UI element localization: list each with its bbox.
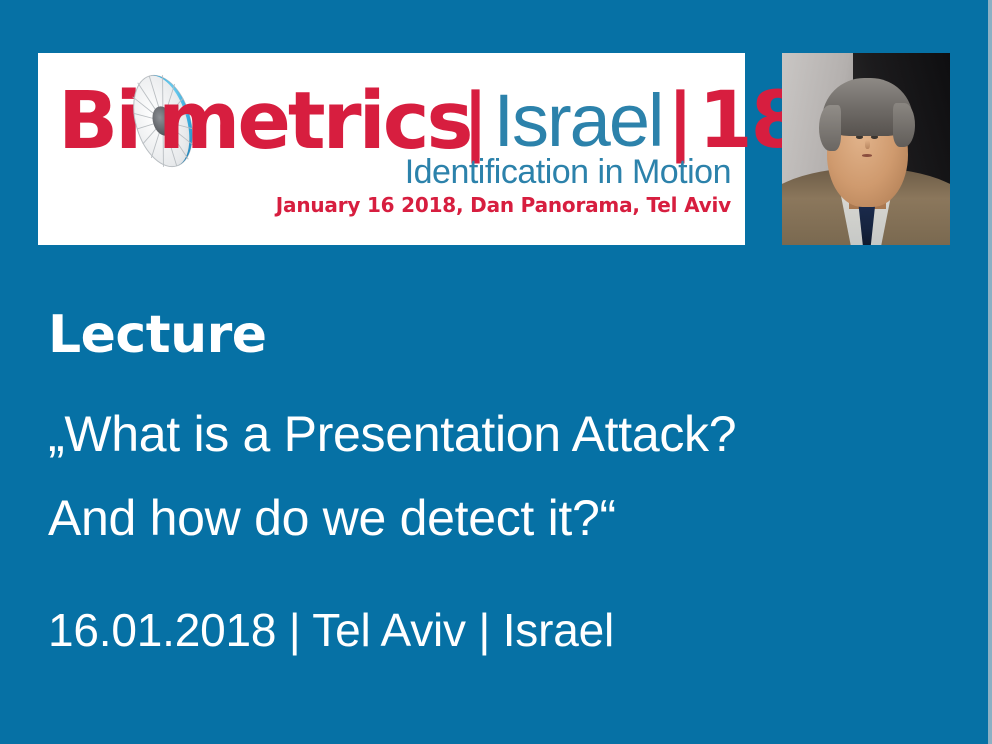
portrait-nose: [865, 140, 870, 150]
lecture-title-line-1: „What is a Presentation Attack?: [48, 405, 736, 463]
presentation-slide: Bi: [0, 0, 992, 744]
event-details: 16.01.2018 | Tel Aviv | Israel: [48, 603, 614, 657]
logo-event-line: January 16 2018, Dan Panorama, Tel Aviv: [276, 193, 731, 217]
portrait-eye-left: [856, 135, 863, 139]
page-title: Lecture: [48, 306, 267, 364]
right-edge-strip: [988, 0, 992, 744]
portrait-hair-left: [819, 105, 841, 151]
lecture-title-line-2: And how do we detect it?“: [48, 489, 616, 547]
portrait-eye-right: [871, 135, 878, 139]
speaker-portrait: [782, 53, 950, 245]
logo-tagline: Identification in Motion: [405, 153, 731, 192]
conference-logo-card: Bi: [38, 53, 745, 245]
portrait-mouth: [862, 154, 872, 157]
conference-logo: Bi: [38, 53, 745, 245]
portrait-hair-right: [893, 103, 915, 147]
